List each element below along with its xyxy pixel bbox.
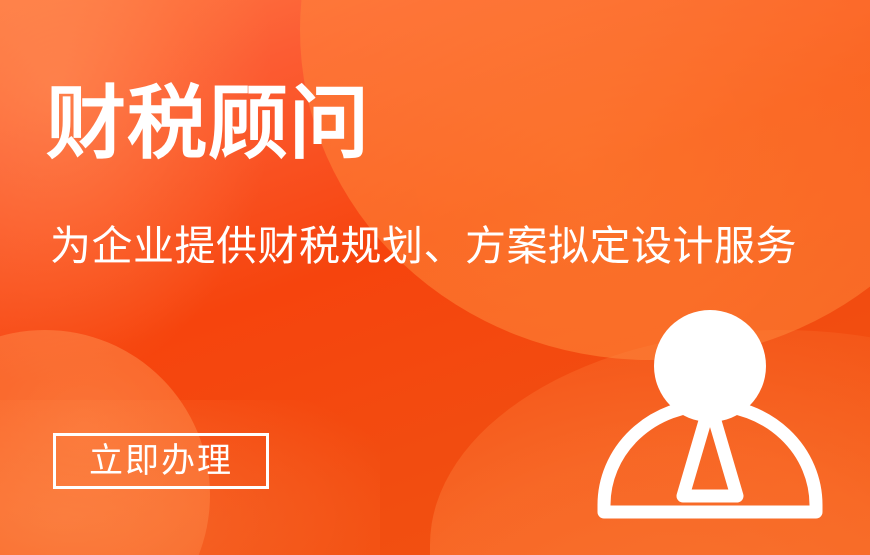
banner-subtitle: 为企业提供财税规划、方案拟定设计服务 bbox=[50, 222, 797, 270]
person-advisor-icon-svg bbox=[592, 300, 828, 532]
promo-banner: 财税顾问 为企业提供财税规划、方案拟定设计服务 立即办理 bbox=[0, 0, 870, 555]
banner-title: 财税顾问 bbox=[46, 84, 370, 164]
apply-now-button[interactable]: 立即办理 bbox=[53, 433, 269, 489]
person-advisor-icon bbox=[592, 300, 828, 532]
banner-content: 财税顾问 为企业提供财税规划、方案拟定设计服务 立即办理 bbox=[0, 0, 870, 555]
